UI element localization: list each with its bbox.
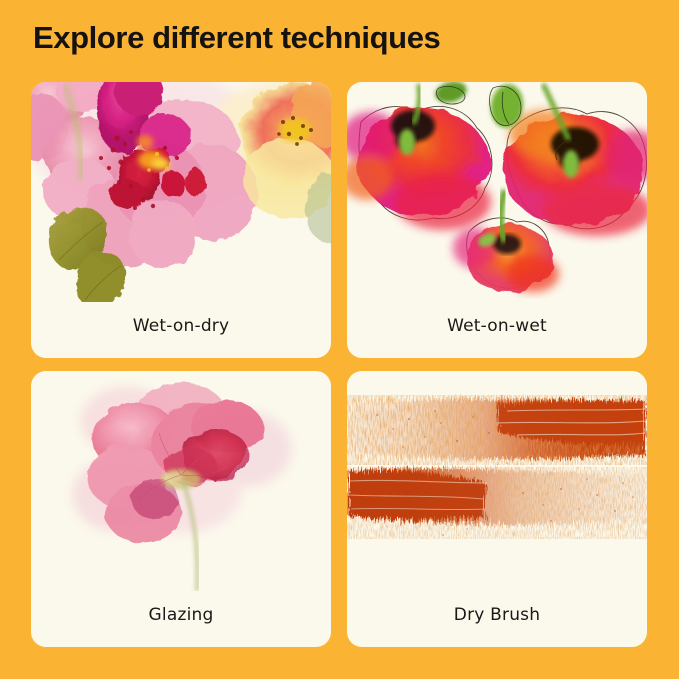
technique-card-dry-brush[interactable]: Dry Brush <box>347 371 647 647</box>
page-title: Explore different techniques <box>33 21 440 56</box>
technique-card-wet-on-wet[interactable]: Wet-on-wet <box>347 82 647 358</box>
card-label-wet-on-dry: Wet-on-dry <box>31 302 331 358</box>
artwork-wet-on-wet <box>347 82 647 302</box>
wet-on-dry-painting <box>31 82 331 302</box>
card-label-glazing: Glazing <box>31 591 331 647</box>
techniques-page: Explore different techniques <box>0 0 679 679</box>
artwork-glazing <box>31 371 331 591</box>
glazing-painting <box>31 371 331 591</box>
technique-card-glazing[interactable]: Glazing <box>31 371 331 647</box>
card-label-wet-on-wet: Wet-on-wet <box>347 302 647 358</box>
dry-brush-painting <box>347 371 647 591</box>
card-label-dry-brush: Dry Brush <box>347 591 647 647</box>
technique-card-grid: Wet-on-dry <box>31 82 647 647</box>
artwork-wet-on-dry <box>31 82 331 302</box>
artwork-dry-brush <box>347 371 647 591</box>
wet-on-wet-painting <box>347 82 647 302</box>
technique-card-wet-on-dry[interactable]: Wet-on-dry <box>31 82 331 358</box>
